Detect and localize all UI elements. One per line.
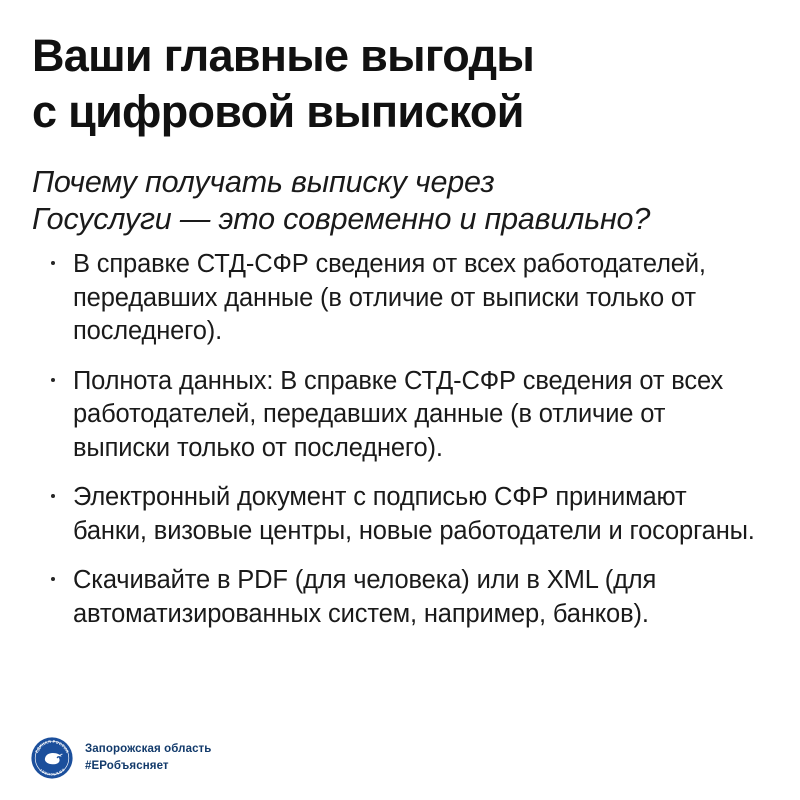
footer: ЕДИНАЯ РОССИЯ ОБЪЯСНЯЕТ Запорожская обла… (31, 737, 211, 779)
list-item-text: Скачивайте в PDF (для человека) или в XM… (73, 564, 764, 631)
infographic-slide: Ваши главные выгоды с цифровой выпиской … (0, 0, 800, 800)
bullet-dot-icon (51, 378, 55, 382)
united-russia-bear-emblem-icon: ЕДИНАЯ РОССИЯ ОБЪЯСНЯЕТ (31, 737, 73, 779)
bullet-dot-icon (51, 577, 55, 581)
bullet-dot-icon (51, 261, 55, 265)
page-title: Ваши главные выгоды с цифровой выпиской (32, 28, 768, 140)
list-item: Скачивайте в PDF (для человека) или в XM… (44, 564, 764, 631)
footer-region-label: Запорожская область (85, 742, 211, 757)
list-item-text: В справке СТД-СФР сведения от всех работ… (73, 248, 764, 349)
list-item-text: Электронный документ с подписью СФР прин… (73, 481, 764, 548)
bullet-dot-icon (51, 494, 55, 498)
page-subtitle-line-1: Почему получать выписку через (32, 164, 772, 201)
footer-caption: Запорожская область #ЕРобъясняет (85, 742, 211, 774)
page-title-line-2: с цифровой выпиской (32, 84, 768, 140)
page-title-line-1: Ваши главные выгоды (32, 28, 768, 84)
benefits-list: В справке СТД-СФР сведения от всех работ… (44, 248, 764, 631)
list-item: Электронный документ с подписью СФР прин… (44, 481, 764, 548)
list-item-text: Полнота данных: В справке СТД-СФР сведен… (73, 365, 764, 466)
list-item: Полнота данных: В справке СТД-СФР сведен… (44, 365, 764, 466)
page-subtitle-line-2: Госуслуги — это современно и правильно? (32, 201, 772, 238)
page-subtitle: Почему получать выписку через Госуслуги … (32, 164, 772, 238)
list-item: В справке СТД-СФР сведения от всех работ… (44, 248, 764, 349)
footer-hashtag-label: #ЕРобъясняет (85, 759, 211, 774)
